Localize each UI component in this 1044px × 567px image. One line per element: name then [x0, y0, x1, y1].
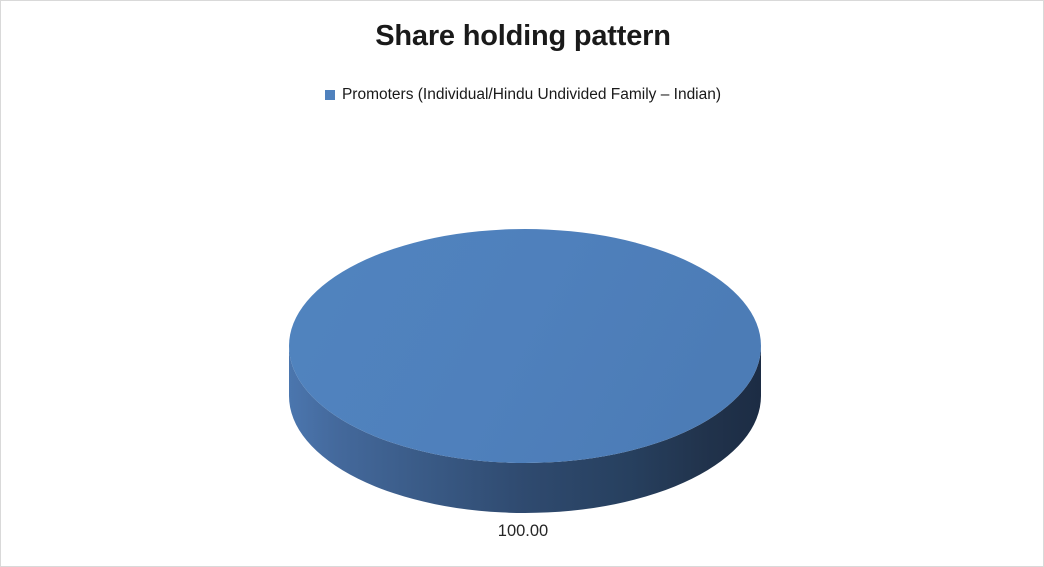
chart-title: Share holding pattern — [1, 19, 1044, 53]
pie-slice-graphic[interactable] — [289, 229, 761, 513]
chart-canvas: Share holding pattern Promoters (Individ… — [0, 0, 1044, 567]
chart-legend: Promoters (Individual/Hindu Undivided Fa… — [1, 85, 1044, 104]
pie-data-label: 100.00 — [1, 521, 1044, 541]
pie-chart-3d — [289, 229, 761, 513]
legend-item-label: Promoters (Individual/Hindu Undivided Fa… — [342, 85, 721, 104]
legend-square-icon — [325, 90, 335, 100]
legend-item-promoters[interactable]: Promoters (Individual/Hindu Undivided Fa… — [325, 85, 721, 104]
